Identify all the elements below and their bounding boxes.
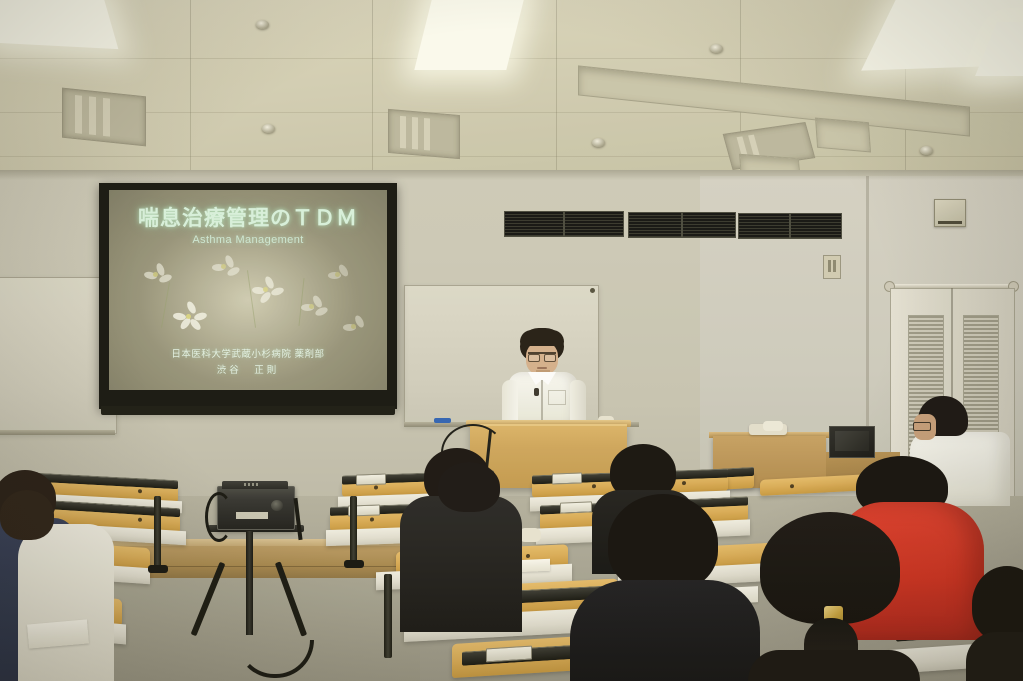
wall-vent — [682, 212, 736, 238]
clip-microphone-icon — [534, 388, 539, 396]
eyeglasses-icon — [913, 422, 931, 431]
projector-stand-pole — [246, 531, 253, 635]
ceiling-vent — [388, 109, 460, 159]
desk-leg-foot — [344, 560, 364, 568]
desk-leg — [350, 496, 357, 564]
desk-leg — [154, 496, 161, 568]
attendee-torso — [966, 632, 1023, 681]
seat-label-tag — [552, 472, 582, 484]
wall-vent — [628, 212, 682, 238]
ceiling — [0, 0, 1023, 186]
seat-label-tag — [356, 473, 386, 485]
attendee-foreground-dark — [556, 494, 768, 681]
slide-flower-image — [123, 248, 373, 356]
slide-presenter-name: 渋谷 正則 — [109, 362, 387, 376]
whiteboard-clip — [590, 288, 595, 293]
attendee-right-edge — [972, 566, 1023, 681]
presenter-fringe — [520, 330, 564, 346]
slide-subtitle: Asthma Management — [109, 234, 387, 246]
wall-vent — [738, 213, 790, 239]
presenter-shirt-pocket — [548, 390, 566, 405]
projection-screen-base — [101, 406, 395, 415]
lecture-hall-photo: 喘息治療管理のＴＤＭ Asthma Management 日本医科大学武蔵小杉病… — [0, 0, 1023, 681]
wall-vent — [790, 213, 842, 239]
attendee-hair — [972, 566, 1023, 642]
ceiling-vent — [62, 88, 146, 147]
attendee-hair — [0, 490, 54, 540]
ceiling-light-panel — [0, 0, 118, 49]
wall-outlet-plate — [823, 255, 841, 279]
sprinkler-head — [262, 124, 275, 133]
blue-marker[interactable] — [434, 418, 451, 423]
attendee-torso — [18, 524, 114, 681]
attendee-torso — [400, 496, 522, 632]
whiteboard-tray-left — [0, 430, 115, 435]
attendee-hair — [608, 494, 718, 592]
projector-cable-coil — [205, 492, 233, 542]
sprinkler-head — [592, 138, 605, 147]
attendee-torso — [748, 650, 920, 681]
wall-vent — [504, 211, 564, 237]
desk-leg-foot — [148, 565, 168, 573]
sprinkler-head — [920, 146, 933, 155]
eyeglasses-icon — [528, 352, 556, 360]
sprinkler-head — [256, 20, 269, 29]
desk-papers — [763, 421, 783, 431]
presentation-slide: 喘息治療管理のＴＤＭ Asthma Management 日本医科大学武蔵小杉病… — [109, 190, 387, 390]
presenter-mouth — [537, 367, 547, 369]
attendee-hair — [438, 462, 500, 512]
attendee-left-cream — [0, 498, 112, 681]
speaker-alarm-box — [934, 199, 966, 227]
attendee-behind-podium — [438, 462, 502, 512]
slide-organization: 日本医科大学武蔵小杉病院 薬剤部 — [109, 346, 387, 360]
sprinkler-head — [710, 44, 723, 53]
control-monitor — [829, 426, 875, 458]
attendee-torso — [570, 580, 760, 681]
desk-leg — [384, 574, 392, 658]
projection-screen: 喘息治療管理のＴＤＭ Asthma Management 日本医科大学武蔵小杉病… — [99, 183, 397, 409]
wall-vent — [564, 211, 624, 237]
attendee-ponytail — [746, 512, 922, 681]
ceiling-light-panel — [414, 0, 525, 70]
ceiling-access-hatch — [815, 117, 871, 152]
projector-indicator-lights — [244, 483, 258, 486]
projector-label — [236, 512, 268, 519]
wall-ceiling-shadow — [0, 170, 1023, 180]
projector-lens — [271, 500, 283, 511]
slide-title: 喘息治療管理のＴＤＭ — [109, 202, 387, 232]
